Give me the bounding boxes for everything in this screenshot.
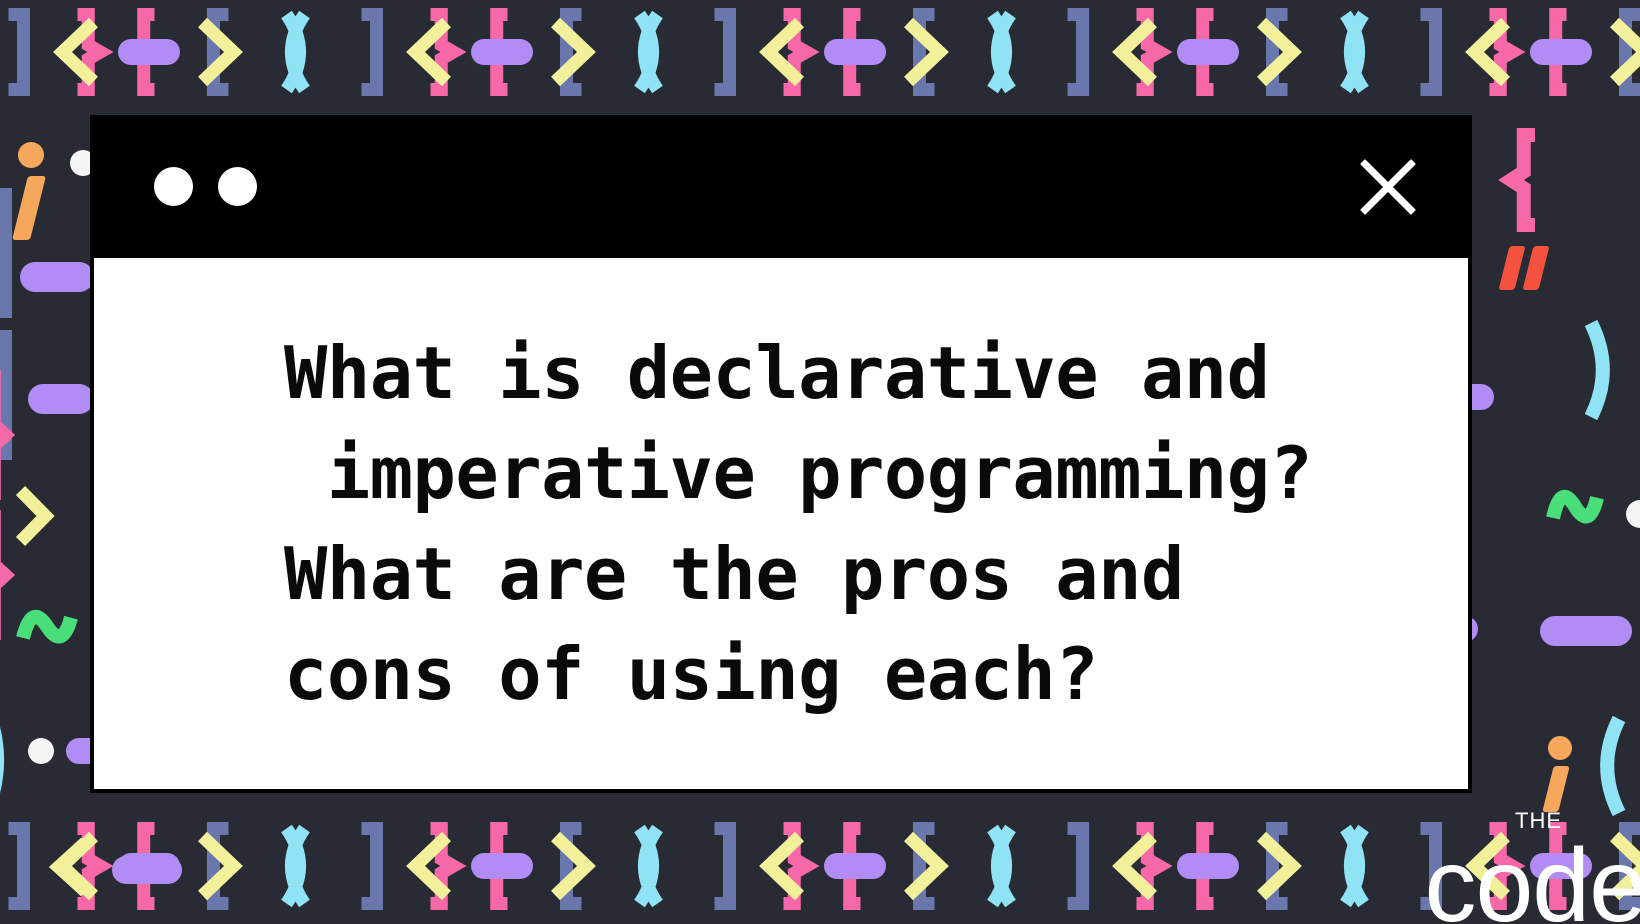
- chevron-left-glyph: [56, 830, 100, 902]
- chevron-right-glyph: [1255, 830, 1299, 902]
- chevron-right-glyph: [1255, 16, 1299, 88]
- brand-prefix: THE: [1424, 810, 1562, 832]
- brace-open-glyph: [1537, 8, 1573, 96]
- chevron-left-glyph: [1115, 16, 1159, 88]
- brace-close-glyph: [71, 8, 107, 96]
- brace-close-glyph: [777, 8, 813, 96]
- dash-glyph: [112, 856, 182, 884]
- paren-close-glyph: [986, 8, 1020, 96]
- dash-glyph: [471, 39, 533, 65]
- brace-open-glyph: [1184, 822, 1220, 910]
- bracket-close-glyph: [0, 330, 12, 460]
- slash-glyph: [1542, 766, 1569, 812]
- chevron-left-glyph: [1468, 16, 1512, 88]
- tilde-glyph: [1546, 488, 1604, 532]
- dot-glyph: [1626, 500, 1640, 528]
- brand-name: code: [1424, 834, 1640, 924]
- slash-glyph: [1499, 246, 1526, 290]
- window-content: What is declarative and imperative progr…: [94, 258, 1468, 789]
- dash-glyph: [1540, 616, 1632, 646]
- bracket-open-glyph: [207, 822, 235, 910]
- brace-open-glyph: [831, 8, 867, 96]
- dot-glyph: [28, 738, 54, 764]
- dash-glyph: [1177, 39, 1239, 65]
- window-dots: [154, 167, 257, 206]
- brace-open-glyph: [1504, 128, 1542, 232]
- brace-open-glyph: [125, 822, 161, 910]
- chevron-left-glyph: [1468, 830, 1512, 902]
- slash-glyph: [1523, 246, 1550, 290]
- window-dot-1-icon[interactable]: [154, 167, 193, 206]
- bracket-close-glyph: [1061, 8, 1089, 96]
- bracket-close-glyph: [355, 8, 383, 96]
- chevron-right-glyph: [196, 16, 240, 88]
- brace-close-glyph: [1483, 8, 1519, 96]
- window-titlebar: [90, 115, 1472, 258]
- brace-close-glyph: [424, 8, 460, 96]
- brace-open-glyph: [1537, 822, 1573, 910]
- bracket-close-glyph: [2, 822, 30, 910]
- chevron-left-glyph: [1115, 830, 1159, 902]
- paren-close-glyph: [1584, 316, 1616, 424]
- paren-open-glyph: [983, 8, 1017, 96]
- brand-logo: THE code: [1424, 810, 1640, 924]
- paren-open-glyph: [630, 822, 664, 910]
- bracket-open-glyph: [913, 822, 941, 910]
- brace-close-glyph: [71, 822, 107, 910]
- chevron-left-glyph: [52, 836, 92, 898]
- bracket-close-glyph: [2, 8, 30, 96]
- paren-open-glyph: [277, 8, 311, 96]
- bracket-open-glyph: [560, 822, 588, 910]
- paren-close-glyph: [986, 822, 1020, 910]
- brace-close-glyph: [424, 822, 460, 910]
- dash-glyph: [1530, 39, 1592, 65]
- paren-close-glyph: [1339, 8, 1373, 96]
- chevron-right-glyph: [14, 484, 52, 548]
- bracket-close-glyph: [1414, 8, 1442, 96]
- brace-close-glyph: [1130, 8, 1166, 96]
- bracket-open-glyph: [1619, 8, 1640, 96]
- chevron-right-glyph: [902, 830, 946, 902]
- paren-close-glyph: [0, 700, 10, 820]
- chevron-left-glyph: [56, 16, 100, 88]
- dash-glyph: [824, 39, 886, 65]
- paren-close-glyph: [280, 8, 314, 96]
- bracket-open-glyph: [1619, 822, 1640, 910]
- dash-glyph: [118, 853, 180, 879]
- dialog-window: What is declarative and imperative progr…: [90, 115, 1472, 793]
- chevron-right-glyph: [1608, 16, 1640, 88]
- dash-glyph: [824, 853, 886, 879]
- bracket-open-glyph: [1266, 8, 1294, 96]
- close-icon[interactable]: [1352, 151, 1424, 223]
- tilde-glyph: [16, 608, 78, 652]
- bracket-open-glyph: [1266, 822, 1294, 910]
- bracket-open-glyph: [913, 8, 941, 96]
- dash-glyph: [1177, 853, 1239, 879]
- paren-open-glyph: [1336, 822, 1370, 910]
- chevron-right-glyph: [196, 830, 240, 902]
- bracket-close-glyph: [708, 822, 736, 910]
- dash-glyph: [28, 384, 94, 414]
- bracket-close-glyph: [0, 188, 12, 318]
- brace-open-glyph: [478, 822, 514, 910]
- brace-close-glyph: [777, 822, 813, 910]
- chevron-right-glyph: [1608, 830, 1640, 902]
- chevron-right-glyph: [902, 16, 946, 88]
- paren-open-glyph: [1336, 8, 1370, 96]
- bracket-close-glyph: [1414, 822, 1442, 910]
- question-text: What is declarative and imperative progr…: [94, 323, 1468, 723]
- brace-close-glyph: [1130, 822, 1166, 910]
- chevron-left-glyph: [762, 830, 806, 902]
- paren-close-glyph: [633, 8, 667, 96]
- paren-open-glyph: [277, 822, 311, 910]
- brace-open-glyph: [125, 8, 161, 96]
- bracket-close-glyph: [355, 822, 383, 910]
- paren-open-glyph: [1594, 712, 1626, 820]
- dash-glyph: [1530, 853, 1592, 879]
- chevron-right-glyph: [549, 16, 593, 88]
- bracket-open-glyph: [207, 8, 235, 96]
- chevron-right-glyph: [549, 830, 593, 902]
- chevron-left-glyph: [762, 16, 806, 88]
- window-dot-2-icon[interactable]: [218, 167, 257, 206]
- brace-close-glyph: [0, 510, 12, 640]
- chevron-left-glyph: [409, 16, 453, 88]
- paren-open-glyph: [983, 822, 1017, 910]
- dash-glyph: [471, 853, 533, 879]
- dash-glyph: [20, 262, 94, 292]
- brace-open-glyph: [1184, 8, 1220, 96]
- dot-glyph: [18, 142, 44, 168]
- paren-close-glyph: [280, 822, 314, 910]
- screen: What is declarative and imperative progr…: [0, 0, 1640, 924]
- chevron-left-glyph: [409, 830, 453, 902]
- bracket-close-glyph: [1061, 822, 1089, 910]
- dash-glyph: [118, 39, 180, 65]
- dot-glyph: [1548, 736, 1572, 760]
- slash-glyph: [12, 176, 46, 240]
- bracket-close-glyph: [708, 8, 736, 96]
- brace-open-glyph: [478, 8, 514, 96]
- brace-close-glyph: [1483, 822, 1519, 910]
- paren-close-glyph: [633, 822, 667, 910]
- brace-open-glyph: [831, 822, 867, 910]
- paren-close-glyph: [1339, 822, 1373, 910]
- brace-close-glyph: [0, 370, 12, 500]
- paren-open-glyph: [630, 8, 664, 96]
- bracket-open-glyph: [560, 8, 588, 96]
